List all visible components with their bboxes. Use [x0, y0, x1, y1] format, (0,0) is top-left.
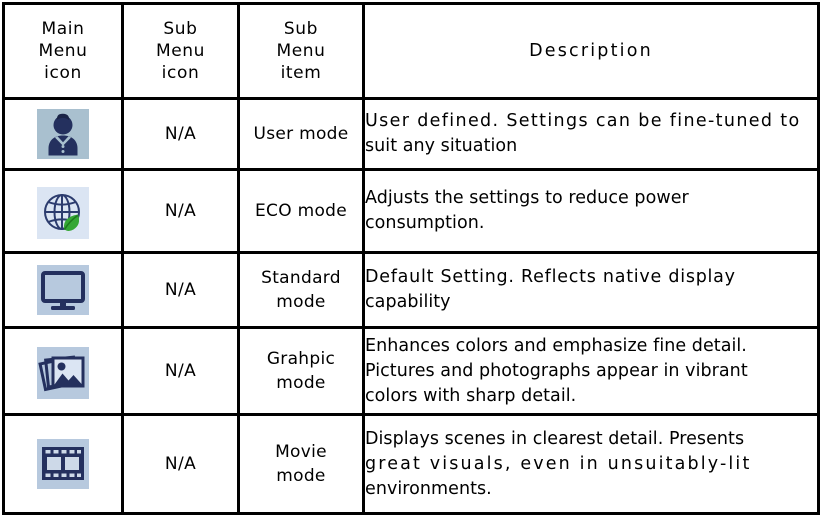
- table-row: N/A ECO mode Adjusts the settings to red…: [4, 170, 819, 253]
- header-line: item: [240, 62, 362, 84]
- cell-sub-menu-item: User mode: [239, 99, 364, 170]
- header-line: Main: [5, 18, 121, 40]
- table-row: N/A Grahpic mode Enhances colors and emp…: [4, 328, 819, 415]
- description-line: environments.: [365, 477, 817, 502]
- item-line: Grahpic: [240, 347, 362, 371]
- cell-main-menu-icon: [4, 99, 123, 170]
- description-line: colors with sharp detail.: [365, 384, 817, 409]
- header-line: Sub: [124, 18, 237, 40]
- header-line: Sub: [240, 18, 362, 40]
- cell-sub-menu-icon: N/A: [123, 253, 239, 328]
- cell-sub-menu-item: Standard mode: [239, 253, 364, 328]
- header-line: Menu: [5, 40, 121, 62]
- cell-sub-menu-icon: N/A: [123, 415, 239, 514]
- standard-mode-icon: [35, 264, 91, 316]
- table-header-row: Main Menu icon Sub Menu icon Sub Menu it…: [4, 4, 819, 99]
- eco-mode-icon: [35, 185, 91, 237]
- cell-main-menu-icon: [4, 415, 123, 514]
- cell-sub-menu-icon: N/A: [123, 170, 239, 253]
- cell-description: Adjusts the settings to reduce power con…: [364, 170, 819, 253]
- cell-sub-menu-item: ECO mode: [239, 170, 364, 253]
- cell-sub-menu-item: Grahpic mode: [239, 328, 364, 415]
- table-row: N/A Movie mode Displays scenes in cleare…: [4, 415, 819, 514]
- item-line: mode: [240, 371, 362, 395]
- display-mode-table: Main Menu icon Sub Menu icon Sub Menu it…: [2, 2, 820, 515]
- cell-description: User defined. Settings can be fine-tuned…: [364, 99, 819, 170]
- description-line: User defined. Settings can be fine-tuned…: [365, 109, 817, 134]
- header-sub-menu-item: Sub Menu item: [239, 4, 364, 99]
- cell-description: Enhances colors and emphasize fine detai…: [364, 328, 819, 415]
- description-line: suit any situation: [365, 134, 817, 159]
- user-mode-icon: [35, 108, 91, 160]
- cell-main-menu-icon: [4, 328, 123, 415]
- graphic-mode-icon: [35, 345, 91, 397]
- item-line: Standard: [240, 266, 362, 290]
- description-line: Displays scenes in clearest detail. Pres…: [365, 427, 817, 452]
- table-row: N/A Standard mode Default Setting. Refle…: [4, 253, 819, 328]
- cell-description: Default Setting. Reflects native display…: [364, 253, 819, 328]
- header-main-menu-icon: Main Menu icon: [4, 4, 123, 99]
- cell-description: Displays scenes in clearest detail. Pres…: [364, 415, 819, 514]
- description-line: great visuals, even in unsuitably-lit: [365, 452, 817, 477]
- header-line: Menu: [240, 40, 362, 62]
- description-line: consumption.: [365, 211, 817, 236]
- header-line: icon: [124, 62, 237, 84]
- header-line: Menu: [124, 40, 237, 62]
- item-line: mode: [240, 290, 362, 314]
- cell-sub-menu-icon: N/A: [123, 99, 239, 170]
- description-line: Enhances colors and emphasize fine detai…: [365, 334, 817, 359]
- item-line: Movie: [240, 440, 362, 464]
- cell-sub-menu-icon: N/A: [123, 328, 239, 415]
- movie-mode-icon: [35, 438, 91, 490]
- header-sub-menu-icon: Sub Menu icon: [123, 4, 239, 99]
- item-line: mode: [240, 464, 362, 488]
- description-line: Pictures and photographs appear in vibra…: [365, 359, 817, 384]
- cell-main-menu-icon: [4, 170, 123, 253]
- header-description: Description: [364, 4, 819, 99]
- description-line: Adjusts the settings to reduce power: [365, 186, 817, 211]
- table-row: N/A User mode User defined. Settings can…: [4, 99, 819, 170]
- cell-main-menu-icon: [4, 253, 123, 328]
- mode-table-container: Main Menu icon Sub Menu icon Sub Menu it…: [0, 0, 821, 526]
- description-line: capability: [365, 290, 817, 315]
- header-line: icon: [5, 62, 121, 84]
- cell-sub-menu-item: Movie mode: [239, 415, 364, 514]
- description-line: Default Setting. Reflects native display: [365, 265, 817, 290]
